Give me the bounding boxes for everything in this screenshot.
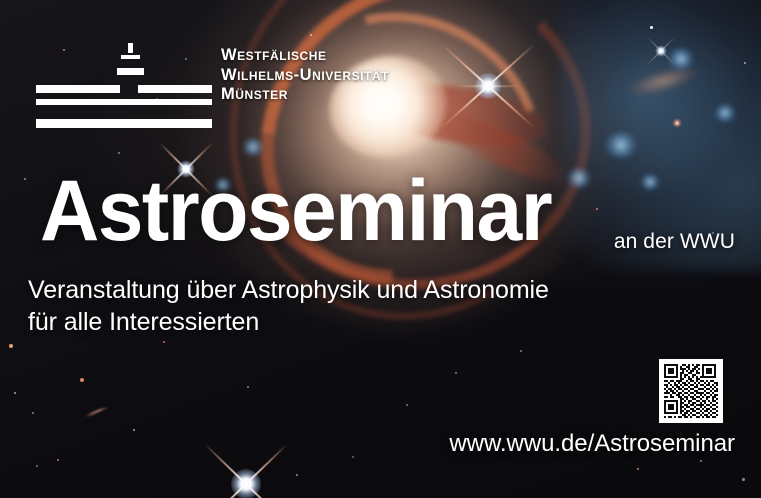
star: [406, 404, 408, 406]
star: [455, 372, 457, 374]
wordmark-line-1: Westfälische: [221, 46, 389, 66]
blue-star-cluster: [714, 104, 736, 122]
logo-bar: [36, 85, 120, 93]
blue-star-cluster: [566, 168, 592, 188]
wwu-wordmark: Westfälische Wilhelms-Universität Münste…: [221, 46, 389, 105]
bright-star-with-diffraction-spikes: [660, 50, 662, 52]
star: [520, 350, 522, 352]
tagline: an der WWU: [614, 230, 735, 254]
star: [9, 344, 13, 348]
star: [637, 468, 639, 470]
star: [14, 392, 16, 394]
subtitle-line-1: Veranstaltung über Astrophysik und Astro…: [28, 274, 549, 306]
blue-star-cluster: [604, 132, 638, 158]
qr-code[interactable]: [659, 359, 723, 423]
qr-code-matrix: [664, 364, 718, 418]
star: [133, 429, 135, 431]
website-url[interactable]: www.wwu.de/Astroseminar: [449, 430, 735, 458]
star: [80, 378, 84, 382]
star: [118, 152, 120, 154]
star: [57, 459, 59, 461]
wordmark-line-2: Wilhelms-Universität: [221, 66, 389, 86]
bright-star-with-diffraction-spikes: [487, 85, 489, 87]
wordmark-line-3: Münster: [221, 85, 389, 105]
astroseminar-poster: Westfälische Wilhelms-Universität Münste…: [0, 0, 761, 498]
blue-star-cluster: [668, 48, 694, 70]
star: [296, 474, 298, 476]
star: [744, 62, 746, 64]
logo-bar: [36, 119, 212, 128]
star: [24, 178, 26, 180]
logo-bar: [128, 43, 133, 53]
star: [700, 460, 702, 462]
star: [352, 456, 354, 458]
star: [247, 386, 249, 388]
logo-bar: [117, 68, 144, 75]
page-title: Astroseminar: [40, 168, 551, 254]
blue-star-cluster: [640, 174, 660, 190]
bright-star-with-diffraction-spikes: [245, 483, 247, 485]
logo-bar: [121, 55, 140, 59]
star: [32, 412, 34, 414]
wwu-logo-mark[interactable]: [36, 36, 212, 112]
subtitle: Veranstaltung über Astrophysik und Astro…: [28, 274, 549, 338]
blue-star-cluster: [242, 138, 264, 156]
logo-bar: [138, 85, 212, 93]
subtitle-line-2: für alle Interessierten: [28, 306, 549, 338]
star: [36, 465, 38, 467]
star: [310, 34, 312, 36]
logo-bar: [36, 99, 212, 105]
star: [742, 478, 745, 481]
bright-star-with-diffraction-spikes: [676, 122, 678, 124]
star: [596, 208, 598, 210]
star: [650, 26, 653, 29]
star: [163, 341, 165, 343]
